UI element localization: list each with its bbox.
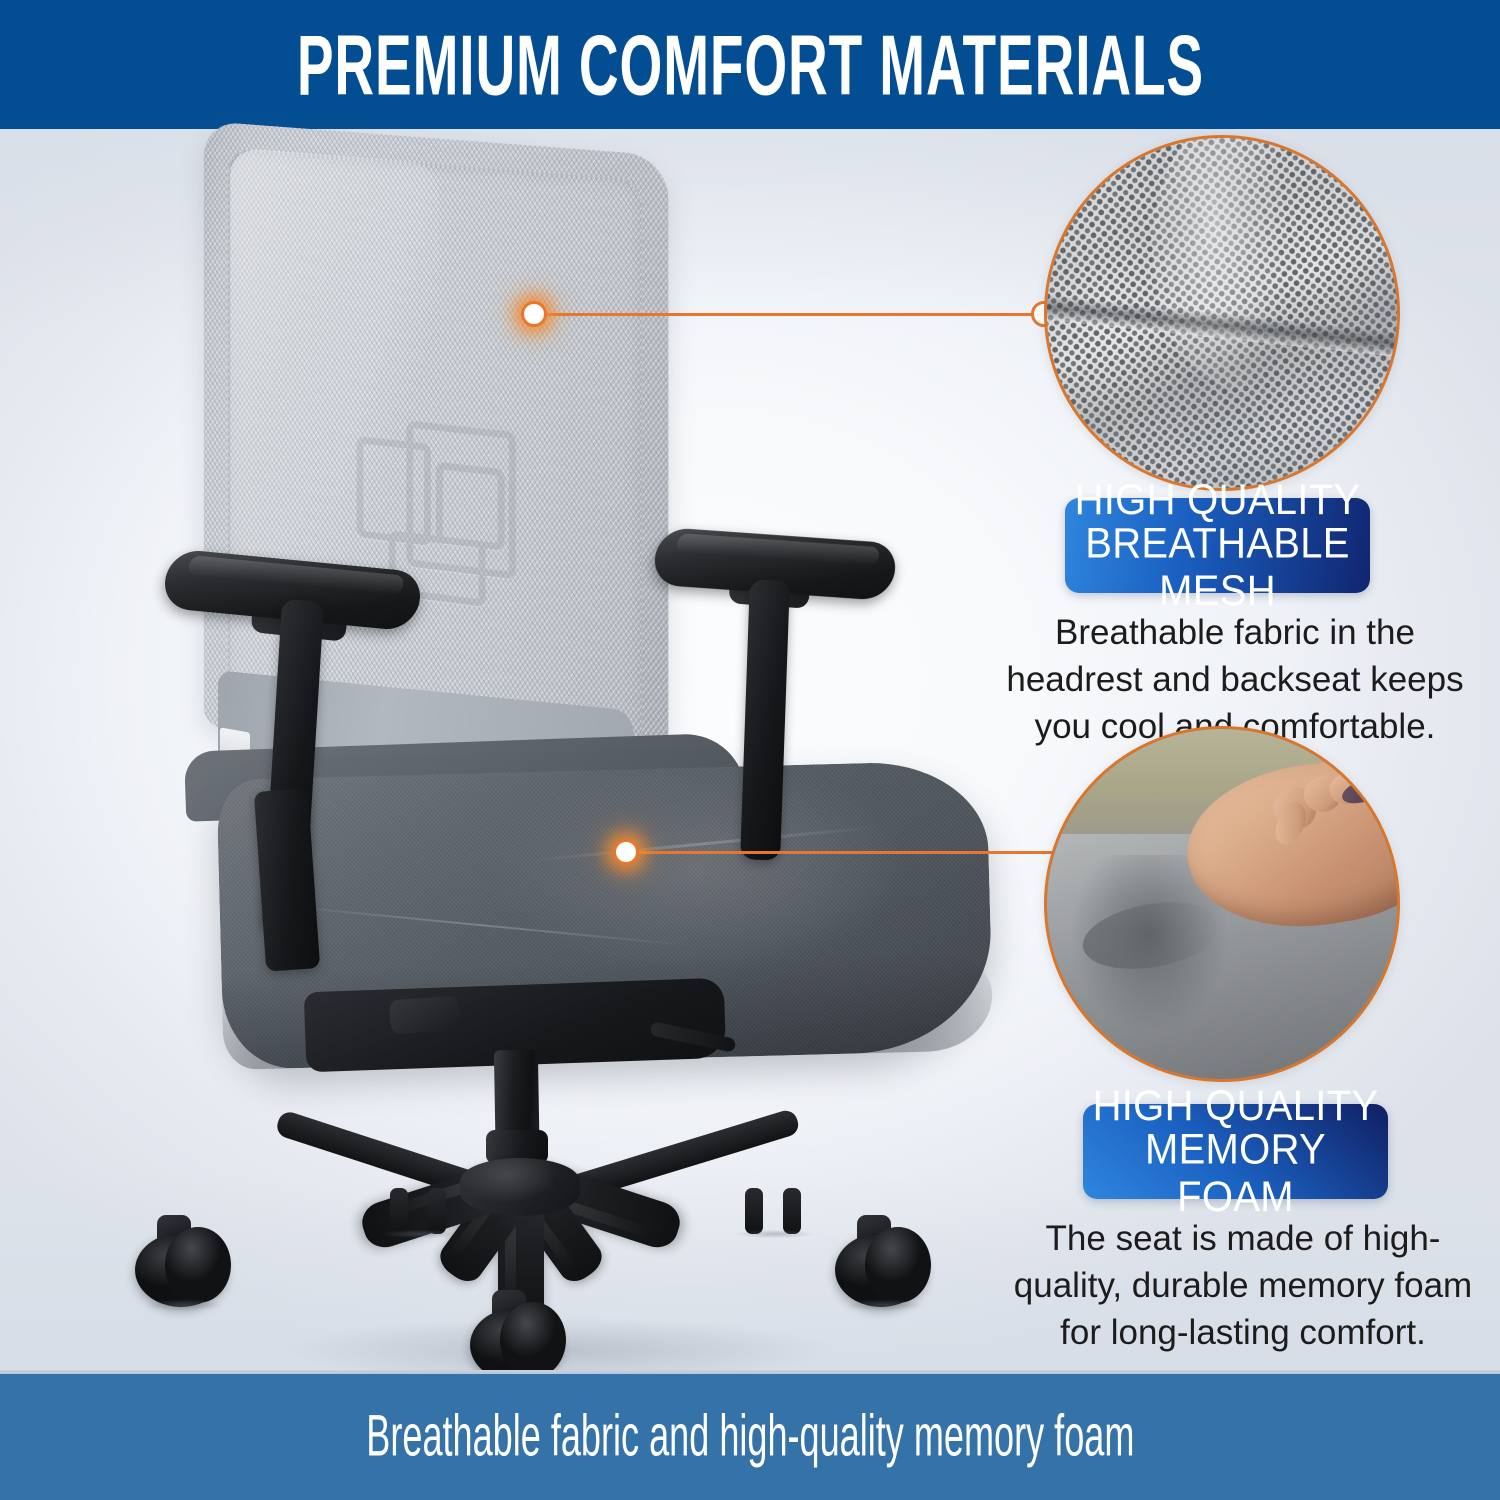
rear-stub-shadow-right — [720, 1228, 830, 1240]
infographic-canvas: PREMIUM COMFORT MATERIALS — [0, 0, 1500, 1500]
closeup-circle-memory-foam — [1044, 726, 1400, 1082]
base-center-hub — [460, 1158, 580, 1216]
caster-wheel-left — [135, 1215, 231, 1307]
header-banner: PREMIUM COMFORT MATERIALS — [0, 0, 1500, 129]
badge-foam-line2: MEMORY FOAM — [1083, 1126, 1388, 1221]
caster-wheel-front — [470, 1290, 566, 1382]
rear-stub-shadow-left — [365, 1228, 475, 1240]
badge-mesh-line1: HIGH QUALITY — [1075, 477, 1361, 524]
callout-dot-foam-on-chair — [613, 839, 639, 865]
badge-foam-line1: HIGH QUALITY — [1093, 1083, 1379, 1130]
tension-adjust-knob — [389, 996, 461, 1035]
callout-dot-mesh-on-chair — [521, 301, 547, 327]
mesh-roll-highlight — [1152, 135, 1355, 390]
badge-breathable-mesh: HIGH QUALITY BREATHABLE MESH — [1065, 498, 1370, 593]
badge-memory-foam: HIGH QUALITY MEMORY FOAM — [1083, 1104, 1388, 1199]
description-memory-foam: The seat is made of high-quality, durabl… — [1008, 1216, 1478, 1357]
closeup-circle-breathable-mesh — [1044, 135, 1400, 491]
page-title: PREMIUM COMFORT MATERIALS — [296, 22, 1203, 108]
backrest-highlight — [230, 147, 439, 734]
footer-caption: Breathable fabric and high-quality memor… — [366, 1408, 1134, 1466]
footer-banner: Breathable fabric and high-quality memor… — [0, 1374, 1500, 1500]
callout-line-mesh — [534, 313, 1048, 316]
caster-wheel-right — [835, 1215, 931, 1307]
badge-mesh-line2: BREATHABLE MESH — [1065, 520, 1370, 615]
